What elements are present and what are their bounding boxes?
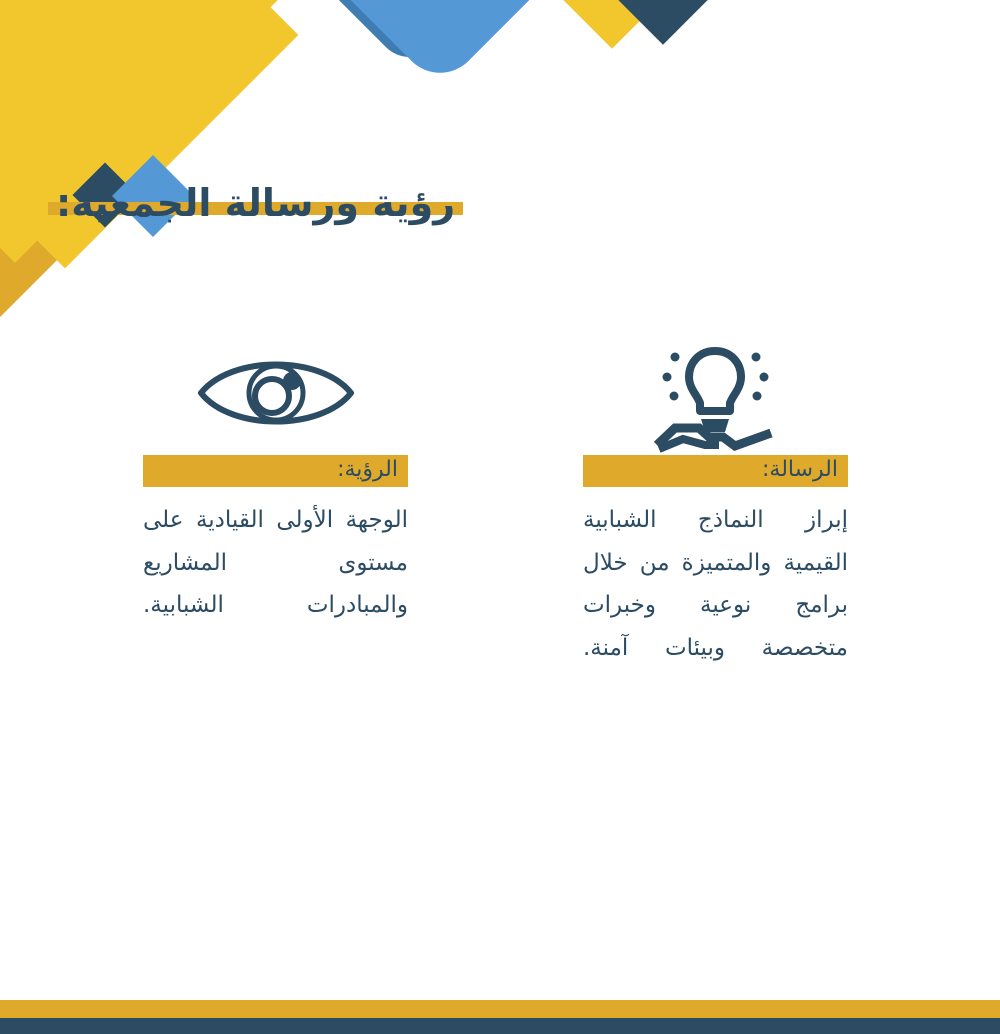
page-title-text: رؤية ورسالة الجمعية: <box>56 181 455 225</box>
vision-label: الرؤية: <box>337 459 398 481</box>
navy-diamond-top-right <box>592 0 733 45</box>
slide-canvas: رؤية ورسالة الجمعية: الرؤية: الوجهة الأو… <box>0 0 1000 1034</box>
vision-label-bar: الرؤية: <box>143 455 408 487</box>
eye-icon <box>191 343 361 443</box>
vision-icon-box <box>143 330 408 455</box>
page-title: رؤية ورسالة الجمعية: <box>50 178 461 230</box>
mission-text: إبراز النماذج الشبابية القيمية والمتميزة… <box>583 499 848 669</box>
blue-rounded-square-dark <box>297 0 523 71</box>
column-mission: الرسالة: إبراز النماذج الشبابية القيمية … <box>583 330 848 669</box>
mission-icon-box <box>583 330 848 455</box>
gold-square-back-2 <box>0 0 192 337</box>
page-title-wrapper: رؤية ورسالة الجمعية: <box>50 178 930 230</box>
yellow-diamond-top-right <box>541 0 682 49</box>
vision-text: الوجهة الأولى القيادية على مستوى المشاري… <box>143 499 408 627</box>
blue-rounded-square-light <box>306 0 575 89</box>
content-columns: الرؤية: الوجهة الأولى القيادية على مستوى… <box>0 330 1000 830</box>
mission-label: الرسالة: <box>762 459 838 481</box>
mission-label-bar: الرسالة: <box>583 455 848 487</box>
footer-gold-bar <box>0 1000 1000 1018</box>
footer-navy-bar <box>0 1018 1000 1034</box>
column-vision: الرؤية: الوجهة الأولى القيادية على مستوى… <box>143 330 408 627</box>
lightbulb-hand-icon <box>653 333 778 453</box>
